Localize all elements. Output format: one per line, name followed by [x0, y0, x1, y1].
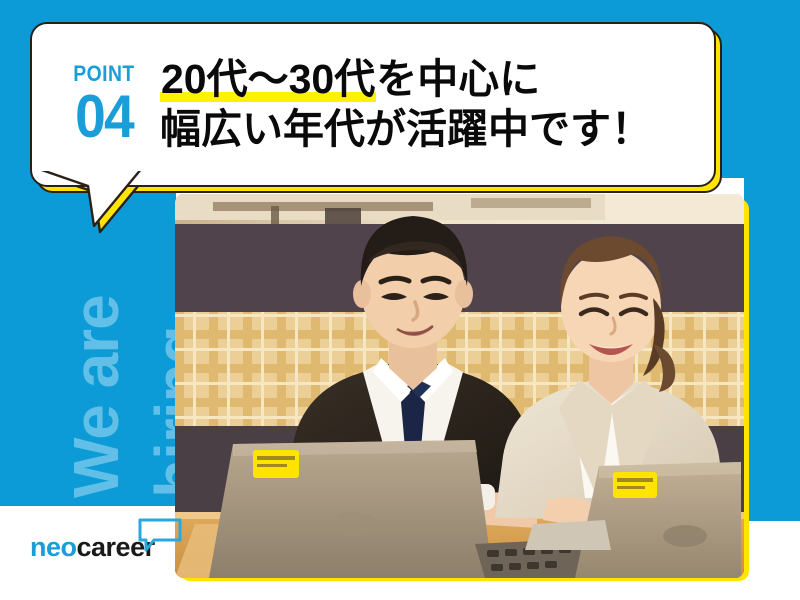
point-badge: POINT 04	[54, 63, 154, 147]
point-number: 04	[58, 87, 150, 147]
headline-line-2: 幅広い年代が活躍中です！	[160, 107, 704, 153]
bubble-tail	[30, 164, 160, 234]
headline-block: 20代～30代を中心に 幅広い年代が活躍中です！	[154, 57, 704, 153]
speech-bubble-icon	[138, 518, 182, 552]
headline-line-1-rest: を中心に	[376, 56, 540, 102]
hero-photo	[175, 194, 744, 578]
banner-canvas: We are hiring.	[0, 0, 800, 600]
point-speech-bubble: POINT 04 20代～30代を中心に 幅広い年代が活躍中です！	[30, 22, 716, 187]
logo-neo: neo	[30, 532, 77, 562]
headline-line-1: 20代～30代を中心に	[160, 57, 704, 103]
point-label: POINT	[60, 63, 148, 85]
blue-right-band	[744, 0, 800, 521]
headline-highlight: 20代～30代	[160, 56, 376, 102]
vertical-tagline-line-1: We are	[66, 295, 127, 498]
neocareer-logo[interactable]: neocareer	[30, 534, 190, 578]
